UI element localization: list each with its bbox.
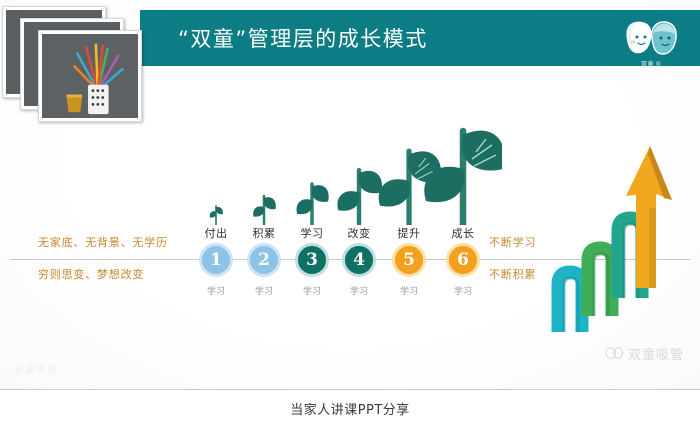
watermark-faces-icon	[604, 346, 624, 362]
stage-sub-label: 学习	[336, 284, 382, 297]
stage-label: 付出	[193, 225, 239, 241]
photo-image	[42, 34, 138, 118]
plant-icon-3	[289, 155, 335, 225]
caption-text: 当家人讲课PPT分享	[290, 399, 410, 418]
plant-icon-6	[440, 125, 486, 225]
left-label-top: 无家底、无背景、无学历	[38, 234, 168, 250]
stage-sub-label: 学习	[241, 284, 287, 297]
caption-bar: 当家人讲课PPT分享	[0, 392, 700, 424]
stage-circle-slot: 4	[336, 241, 382, 281]
stage-label: 成长	[440, 225, 486, 241]
stage-circle-slot: 5	[386, 241, 432, 281]
plant-icon-2	[241, 163, 287, 225]
stage-number-3[interactable]: 3	[295, 243, 329, 277]
stage-6[interactable]: 成长 6 学习	[440, 125, 486, 297]
stage-label: 学习	[289, 225, 335, 241]
growth-arrow-graphic	[548, 138, 684, 333]
stage-sub-label: 学习	[386, 284, 432, 297]
rising-zigzag-arrow-icon	[548, 138, 684, 333]
stage-number-6[interactable]: 6	[446, 243, 480, 277]
stage-label: 提升	[386, 225, 432, 241]
stage-sub-label: 学习	[193, 284, 239, 297]
watermark-text: 双童吸管	[628, 344, 684, 363]
slide-watermark-bottom-right: 双童吸管	[604, 344, 684, 363]
stage-circle-slot: 2	[241, 241, 287, 281]
stage-1[interactable]: 付出 1 学习	[193, 163, 239, 297]
right-label-top: 不断学习	[489, 234, 536, 250]
stage-sub-label: 学习	[440, 284, 486, 297]
stage-circle-slot: 3	[289, 241, 335, 281]
stage-2[interactable]: 积累 2 学习	[241, 163, 287, 297]
stage-number-4[interactable]: 4	[342, 243, 376, 277]
photo-thumbnail-front	[38, 30, 142, 122]
stage-circle-slot: 6	[440, 241, 486, 281]
sprout-icon	[194, 163, 238, 225]
right-label-bottom: 不断积累	[489, 266, 536, 282]
stage-3[interactable]: 学习 3 学习	[289, 155, 335, 297]
stage-number-5[interactable]: 5	[392, 243, 426, 277]
straws-vase-photo-graphic	[42, 34, 138, 118]
stage-sub-label: 学习	[289, 284, 335, 297]
stage-number-1[interactable]: 1	[199, 243, 233, 277]
stage-number-2[interactable]: 2	[247, 243, 281, 277]
stage-circle-slot: 1	[193, 241, 239, 281]
left-label-bottom: 穷则思变、梦想改变	[38, 266, 144, 282]
stage-label: 积累	[241, 225, 287, 241]
plant-icon-1	[193, 163, 239, 225]
stage-label: 改变	[336, 225, 382, 241]
slide-watermark-bottom-left: 双童吸管	[14, 362, 58, 375]
sprout-icon	[240, 163, 288, 225]
screenshot-root: “双童”管理层的成长模式	[0, 0, 700, 424]
sprout-icon	[424, 125, 502, 225]
presentation-slide: “双童”管理层的成长模式	[0, 0, 700, 390]
